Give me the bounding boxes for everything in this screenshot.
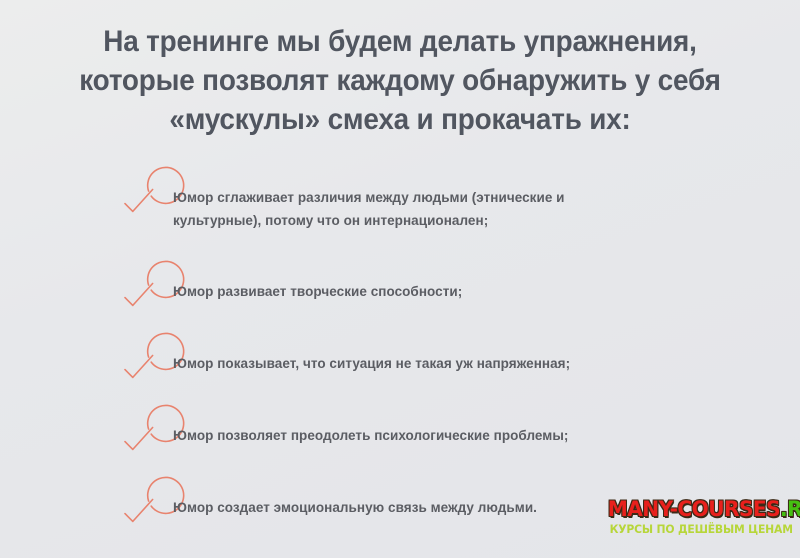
watermark-tagline: КУРСЫ ПО ДЕШЁВЫМ ЦЕНАМ — [610, 522, 787, 536]
list-item: Юмор развивает творческие способности; — [113, 275, 673, 319]
page-title-line-3: «мускулы» смеха и прокачать их: — [56, 100, 744, 139]
list-item-label: Юмор сглаживает различия между людьми (э… — [173, 181, 673, 232]
list-item-line: Юмор развивает творческие способности; — [173, 284, 462, 299]
list-item: Юмор позволяет преодолеть психологически… — [113, 419, 673, 463]
watermark-site-name-red: MANY-COURSES — [608, 497, 780, 521]
check-circle-icon — [113, 419, 157, 463]
watermark-site-name: MANY-COURSES.RU — [608, 498, 788, 521]
list-item: Юмор показывает, что ситуация не такая у… — [113, 347, 673, 391]
check-circle-icon — [113, 491, 157, 535]
check-circle-icon — [113, 181, 157, 225]
watermark-site-name-tld: .RU — [780, 497, 800, 521]
check-circle-icon — [113, 347, 157, 391]
list-item-line: Юмор создает эмоциональную связь между л… — [173, 500, 537, 515]
page-title: На тренинге мы будем делать упражнения, … — [56, 22, 744, 139]
list-item-line: Юмор позволяет преодолеть психологически… — [173, 428, 568, 443]
watermark-logo: MANY-COURSES.RU КУРСЫ ПО ДЕШЁВЫМ ЦЕНАМ — [604, 498, 792, 536]
list-item-line: культурные), потому что он интернационал… — [173, 213, 488, 228]
benefits-list: Юмор сглаживает различия между людьми (э… — [113, 181, 673, 535]
page-title-line-1: На тренинге мы будем делать упражнения, — [56, 22, 744, 61]
list-item-label: Юмор позволяет преодолеть психологически… — [173, 419, 673, 447]
list-item: Юмор сглаживает различия между людьми (э… — [113, 181, 673, 232]
list-item-line: Юмор сглаживает различия между людьми (э… — [173, 190, 565, 205]
check-circle-icon — [113, 275, 157, 319]
page-title-line-2: которые позволят каждому обнаружить у се… — [56, 61, 744, 100]
list-item-label: Юмор развивает творческие способности; — [173, 275, 673, 303]
list-item: Юмор создает эмоциональную связь между л… — [113, 491, 673, 535]
list-item-label: Юмор показывает, что ситуация не такая у… — [173, 347, 673, 375]
slide-canvas: На тренинге мы будем делать упражнения, … — [0, 0, 800, 558]
list-item-line: Юмор показывает, что ситуация не такая у… — [173, 356, 570, 371]
list-item-label: Юмор создает эмоциональную связь между л… — [173, 491, 673, 519]
